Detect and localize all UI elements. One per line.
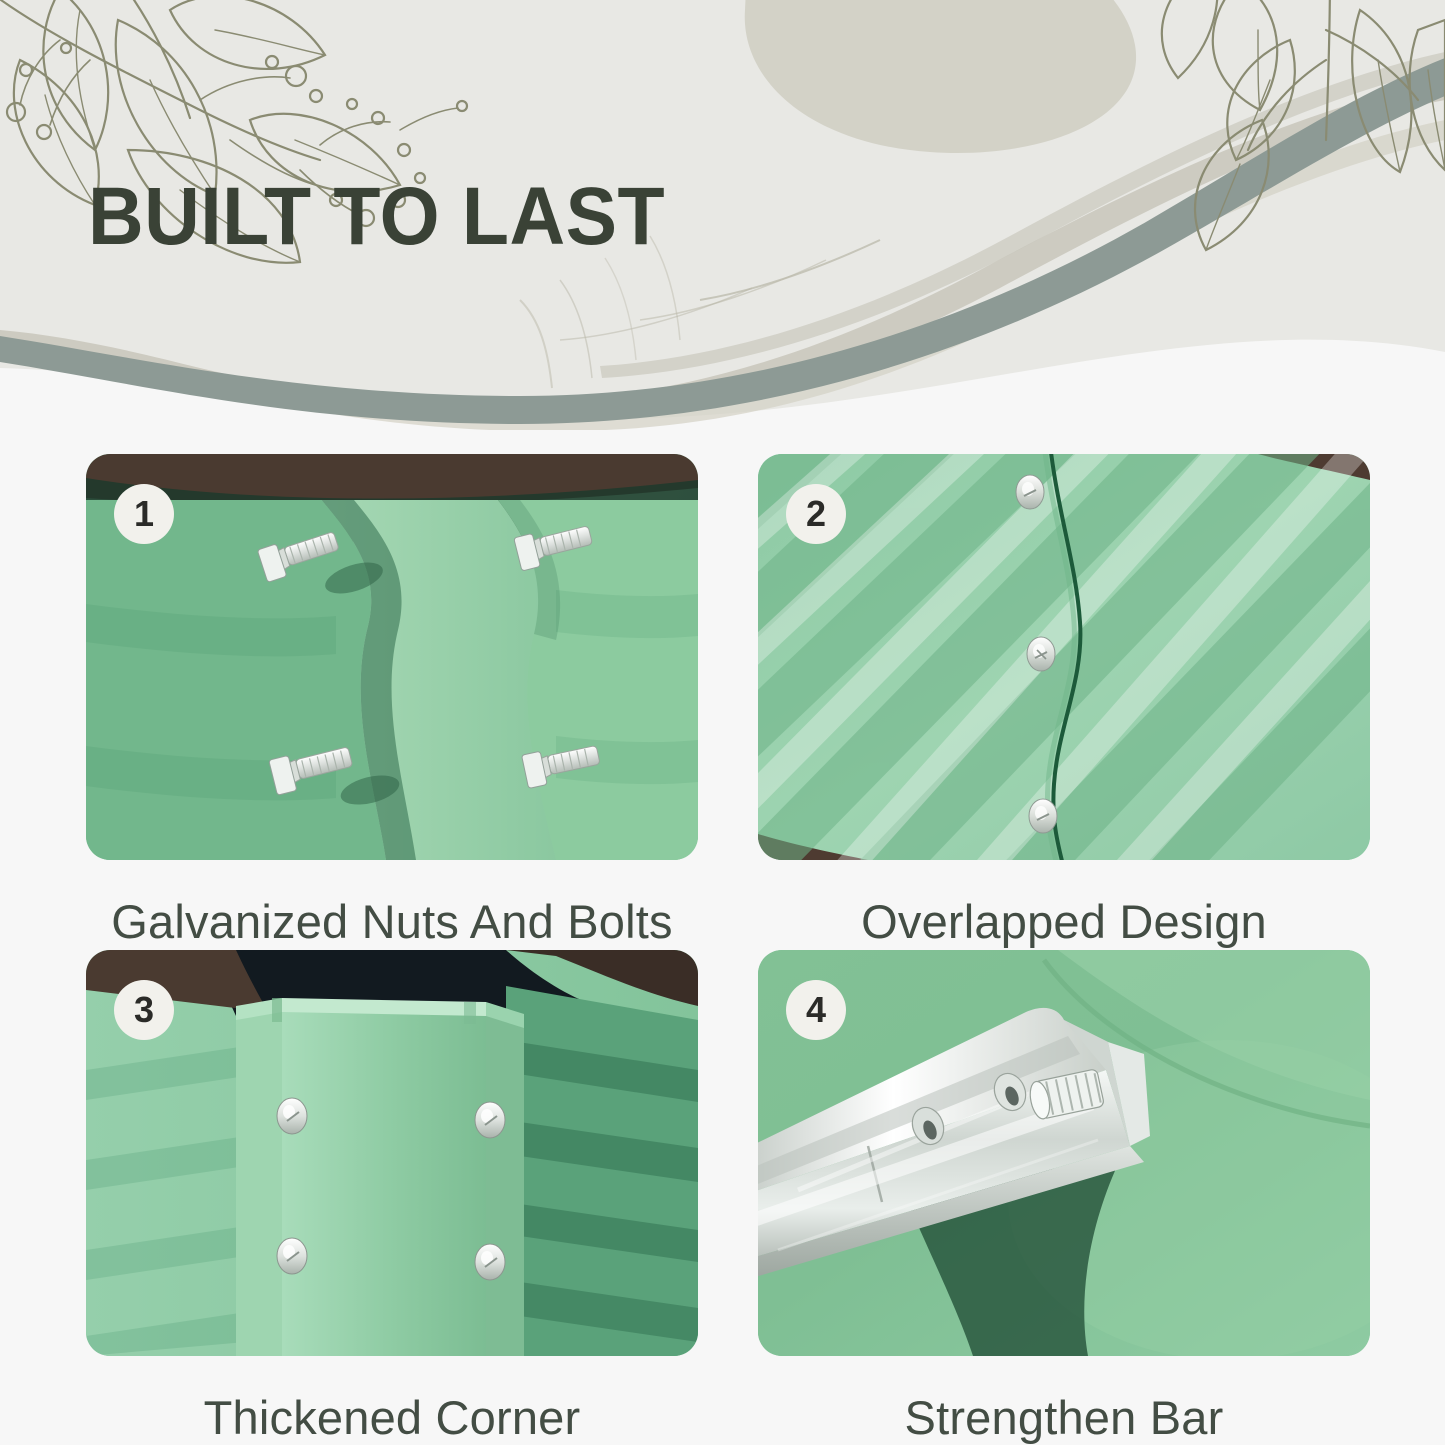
feature-grid: 1 Galvanized Nuts And Bolts: [0, 430, 1445, 1445]
screw-head: [475, 1244, 505, 1280]
corner-illustration: [86, 950, 698, 1356]
galvanized-nuts-and-bolts-photo: 1: [86, 454, 698, 860]
overlap-illustration: [758, 454, 1370, 860]
feature-card-2[interactable]: 2 Overlapped Design: [758, 454, 1370, 949]
screw-head: [277, 1098, 307, 1134]
screw-head: [1027, 637, 1055, 671]
header-banner: BUILT TO LAST: [0, 0, 1445, 430]
feature-caption-1: Galvanized Nuts And Bolts: [86, 894, 698, 949]
step-badge-3: 3: [114, 980, 174, 1040]
step-badge-1: 1: [114, 484, 174, 544]
page-title: BUILT TO LAST: [88, 176, 665, 258]
feature-caption-3: Thickened Corner: [86, 1390, 698, 1445]
step-badge-4: 4: [786, 980, 846, 1040]
screw-head: [475, 1102, 505, 1138]
bolts-illustration: [86, 454, 698, 860]
strengthen-bar-illustration: [758, 950, 1370, 1356]
screw-head: [1016, 475, 1044, 509]
feature-card-3[interactable]: 3 Thickened Corner: [86, 950, 698, 1445]
feature-caption-4: Strengthen Bar: [758, 1390, 1370, 1445]
strengthen-bar-photo: 4: [758, 950, 1370, 1356]
screw-head: [1029, 799, 1057, 833]
feature-card-1[interactable]: 1 Galvanized Nuts And Bolts: [86, 454, 698, 949]
step-badge-2: 2: [786, 484, 846, 544]
screw-head: [277, 1238, 307, 1274]
feature-card-4[interactable]: 4 Strengthen Bar: [758, 950, 1370, 1445]
feature-caption-2: Overlapped Design: [758, 894, 1370, 949]
thickened-corner-photo: 3: [86, 950, 698, 1356]
overlapped-design-photo: 2: [758, 454, 1370, 860]
